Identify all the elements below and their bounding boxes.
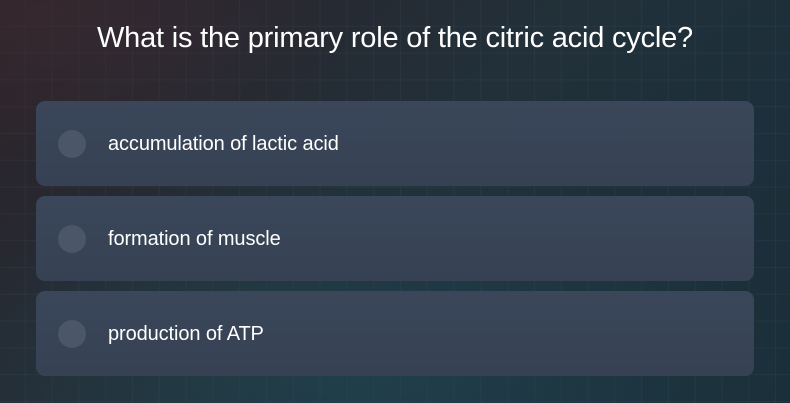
answer-option-3[interactable]: production of ATP (36, 291, 754, 376)
quiz-screen: What is the primary role of the citric a… (0, 0, 790, 403)
answer-option-1[interactable]: accumulation of lactic acid (36, 101, 754, 186)
answer-option-2[interactable]: formation of muscle (36, 196, 754, 281)
answer-options-list: accumulation of lactic acid formation of… (36, 101, 754, 386)
question-title: What is the primary role of the citric a… (0, 21, 790, 55)
quiz-content: What is the primary role of the citric a… (0, 0, 790, 403)
answer-option-label: accumulation of lactic acid (108, 132, 339, 156)
radio-unselected-icon[interactable] (58, 320, 86, 348)
radio-unselected-icon[interactable] (58, 130, 86, 158)
radio-unselected-icon[interactable] (58, 225, 86, 253)
answer-option-label: production of ATP (108, 322, 264, 346)
answer-option-label: formation of muscle (108, 227, 281, 251)
